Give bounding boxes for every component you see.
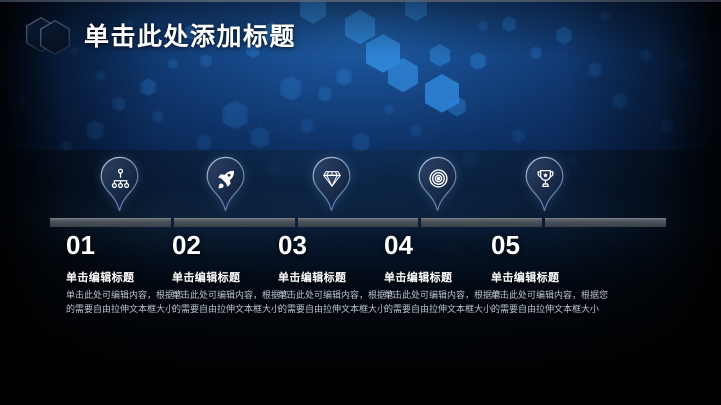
presentation-slide: 单击此处添加标题 01单击编辑标题单击此处可编辑内容，根据您的需要自由拉伸文本框… (0, 0, 721, 405)
content-column-05: 05单击编辑标题单击此处可编辑内容，根据您的需要自由拉伸文本框大小 (491, 232, 616, 317)
column-heading: 单击编辑标题 (491, 269, 616, 285)
column-number: 05 (491, 232, 616, 258)
column-body-text: 单击此处可编辑内容，根据您的需要自由拉伸文本框大小 (384, 289, 506, 317)
column-body-text: 单击此处可编辑内容，根据您的需要自由拉伸文本框大小 (491, 289, 613, 317)
column-body-text: 单击此处可编辑内容，根据您的需要自由拉伸文本框大小 (278, 289, 400, 317)
column-body-text: 单击此处可编辑内容，根据您的需要自由拉伸文本框大小 (172, 289, 294, 317)
column-body-text: 单击此处可编辑内容，根据您的需要自由拉伸文本框大小 (66, 289, 188, 317)
content-columns: 01单击编辑标题单击此处可编辑内容，根据您的需要自由拉伸文本框大小02单击编辑标… (0, 0, 721, 405)
